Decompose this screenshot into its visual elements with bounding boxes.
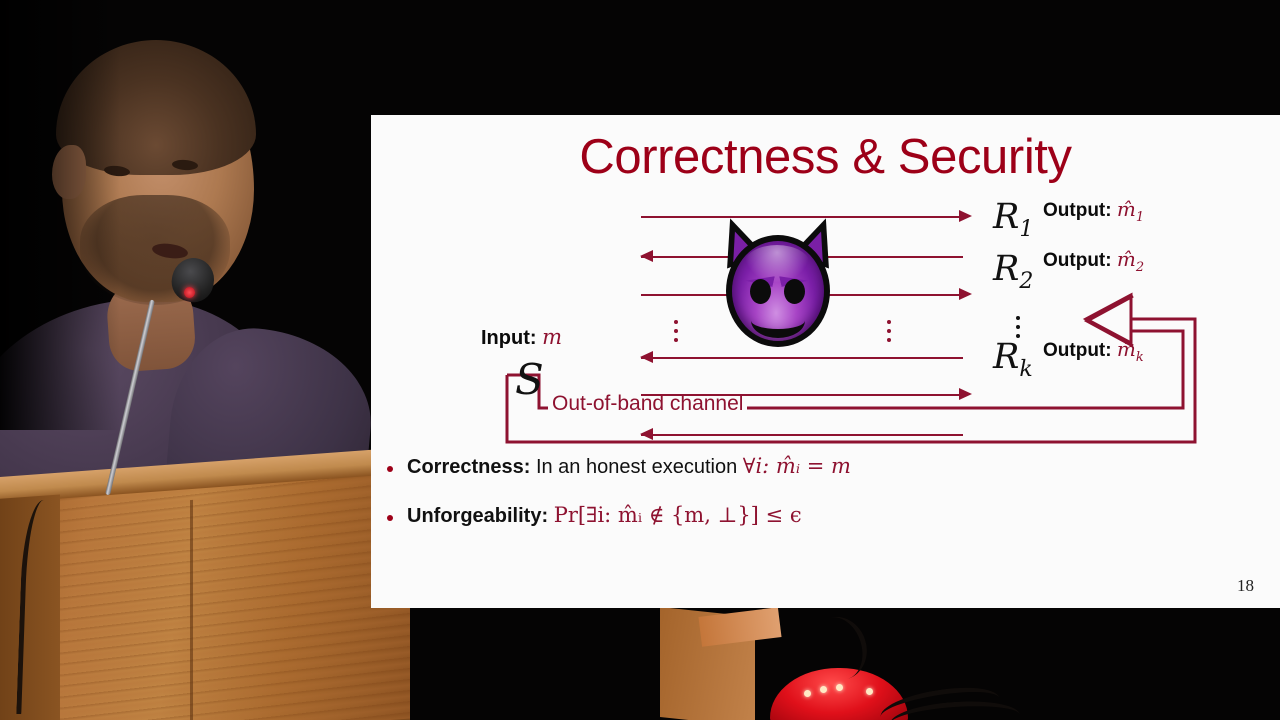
arrowhead-right-1 xyxy=(959,210,972,222)
receiver-output-k: Output: m̂k xyxy=(1043,337,1144,365)
arrowhead-right-5 xyxy=(959,388,972,400)
arrowhead-left-4 xyxy=(640,351,653,363)
channel-line-4 xyxy=(641,357,963,359)
input-variable: m xyxy=(542,325,562,349)
output-label-k: Output: xyxy=(1043,340,1112,361)
arrowhead-left-2 xyxy=(640,250,653,262)
receiver-name-k: R xyxy=(993,337,1019,377)
slide-bullet-list: Correctness: In an honest execution ∀i: … xyxy=(379,453,1279,551)
receiver-name-1: R xyxy=(993,197,1019,237)
channel-ellipsis-right-icon xyxy=(887,315,891,347)
bullet-formula-unforgeability: Pr[∃i: m̂ᵢ ∉ {m, ⊥}] ≤ ϵ xyxy=(554,503,802,527)
bullet-marker-icon xyxy=(387,466,393,472)
channel-line-5 xyxy=(641,394,963,396)
bullet-text-unforgeability: Unforgeability: Pr[∃i: m̂ᵢ ∉ {m, ⊥}] ≤ ϵ xyxy=(407,502,802,529)
bullet-heading-unforgeability: Unforgeability: xyxy=(407,505,548,527)
sender-symbol: S xyxy=(515,355,544,404)
device-led xyxy=(820,686,827,693)
device-led xyxy=(866,688,873,695)
device-led xyxy=(804,690,811,697)
devil-eye-right xyxy=(784,279,805,304)
receiver-symbol-k: Rk xyxy=(993,337,1033,382)
stage-shadow xyxy=(0,0,120,430)
receiver-output-2: Output: m̂2 xyxy=(1043,247,1144,275)
receiver-index-2: 2 xyxy=(1019,269,1033,294)
output-variable-2: m̂2 xyxy=(1117,247,1144,271)
podium-seam xyxy=(190,500,193,720)
channel-line-6 xyxy=(641,434,963,436)
protocol-diagram: Input: m S xyxy=(371,189,1280,439)
arrowhead-right-3 xyxy=(959,288,972,300)
bullet-item-correctness: Correctness: In an honest execution ∀i: … xyxy=(379,453,1279,480)
device-led xyxy=(836,684,843,691)
receiver-output-1: Output: m̂1 xyxy=(1043,197,1144,225)
output-label-1: Output: xyxy=(1043,200,1112,221)
devil-smile xyxy=(751,303,805,338)
arrowhead-left-6 xyxy=(640,428,653,440)
bullet-heading-correctness: Correctness: xyxy=(407,456,530,478)
output-variable-1: m̂1 xyxy=(1117,197,1144,221)
output-label-2: Output: xyxy=(1043,250,1112,271)
slide-title: Correctness & Security xyxy=(371,133,1280,182)
receiver-symbol-2: R2 xyxy=(993,249,1033,294)
presentation-slide: Correctness & Security Out-of-band chann… xyxy=(371,115,1280,608)
screenshot-stage: Correctness & Security Out-of-band chann… xyxy=(0,0,1280,720)
channel-ellipsis-left-icon xyxy=(674,315,678,347)
devil-eye-left xyxy=(750,279,771,304)
receiver-symbol-1: R1 xyxy=(993,197,1033,242)
devil-emoji-icon xyxy=(714,217,842,351)
devil-face-gloss xyxy=(744,245,810,283)
input-label-text: Input: xyxy=(481,327,537,349)
microphone-led xyxy=(184,287,195,298)
bullet-text-correctness: Correctness: In an honest execution ∀i: … xyxy=(407,453,851,480)
bullet-item-unforgeability: Unforgeability: Pr[∃i: m̂ᵢ ∉ {m, ⊥}] ≤ ϵ xyxy=(379,502,1279,529)
bullet-marker-icon xyxy=(387,515,393,521)
sender-input-label: Input: m xyxy=(481,325,562,350)
slide-page-number: 18 xyxy=(1237,576,1254,596)
bullet-body-correctness: In an honest execution xyxy=(530,456,742,478)
receiver-index-1: 1 xyxy=(1019,217,1033,242)
bullet-formula-correctness: ∀i: m̂ᵢ = m xyxy=(743,454,851,478)
receiver-index-k: k xyxy=(1019,357,1032,382)
receiver-name-2: R xyxy=(993,249,1019,289)
output-variable-k: m̂k xyxy=(1117,337,1144,361)
